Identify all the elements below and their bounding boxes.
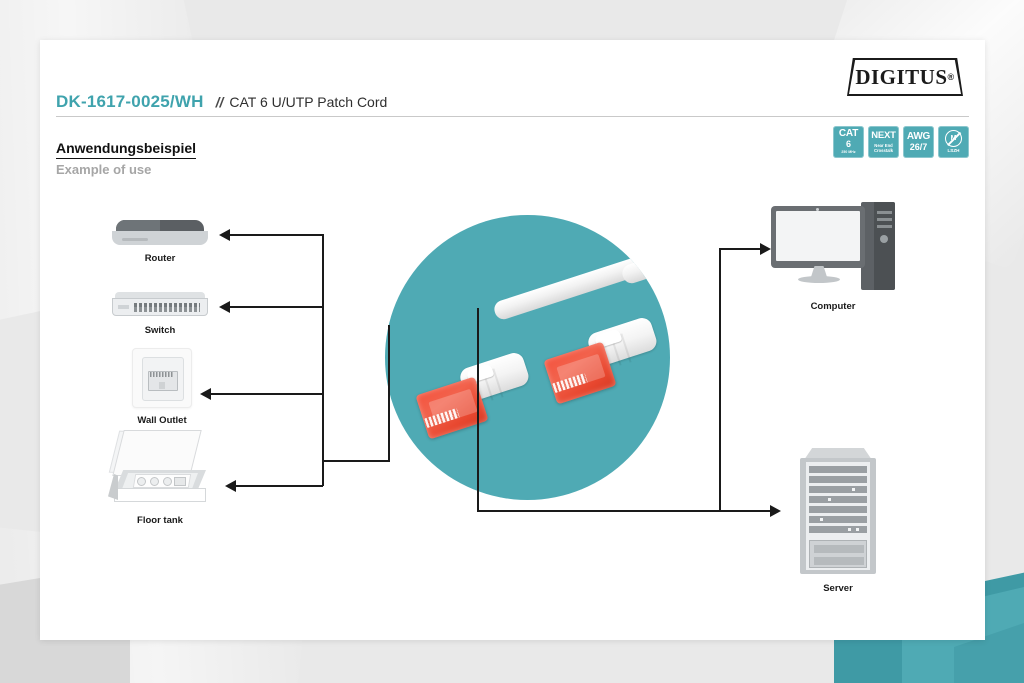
lszh-no-smoke-icon: M bbox=[945, 130, 962, 147]
server-led-2 bbox=[828, 498, 831, 501]
cat6-badge-line2: 6 bbox=[846, 140, 851, 149]
node-floor-tank[interactable]: Floor tank bbox=[108, 430, 212, 526]
server-drive-bay-slot-1 bbox=[814, 545, 864, 553]
computer-screen bbox=[776, 211, 860, 261]
cat6-badge-line1: CAT bbox=[839, 129, 858, 139]
server-slat-2 bbox=[809, 476, 867, 483]
outlet-jack-slot bbox=[159, 382, 165, 389]
computer-tower-slot-3 bbox=[877, 225, 892, 228]
node-computer[interactable]: Computer bbox=[771, 202, 895, 312]
left-branch-outlet bbox=[211, 393, 323, 395]
section-heading-de: Anwendungsbeispiel bbox=[56, 140, 196, 159]
floor-tank-data-socket bbox=[174, 477, 186, 486]
server-led-1 bbox=[852, 488, 855, 491]
server-slat-1 bbox=[809, 466, 867, 473]
switch-icon bbox=[112, 292, 208, 318]
left-trunk-line bbox=[322, 234, 324, 486]
right-trunk-line bbox=[719, 248, 721, 511]
product-description: CAT 6 U/UTP Patch Cord bbox=[229, 94, 387, 110]
product-sku: DK-1617-0025/WH bbox=[56, 92, 204, 112]
outlet-jack-pins bbox=[150, 372, 174, 377]
right-branch-computer bbox=[719, 248, 761, 250]
awg-badge-line1: AWG bbox=[907, 132, 930, 142]
server-slat-5 bbox=[809, 506, 867, 513]
cat6-badge: CAT 6 250 MHz bbox=[833, 126, 864, 158]
lszh-badge-line1: LSZH bbox=[948, 149, 960, 154]
server-slat-4 bbox=[809, 496, 867, 503]
cat6-badge-line3: 250 MHz bbox=[841, 151, 855, 154]
left-branch-switch bbox=[230, 306, 323, 308]
node-label-switch: Switch bbox=[145, 325, 176, 336]
floor-tank-icon bbox=[108, 430, 212, 508]
floor-tank-lid bbox=[112, 430, 201, 476]
computer-icon bbox=[771, 202, 895, 294]
left-branch-router bbox=[230, 234, 323, 236]
floor-tank-side-panel bbox=[108, 474, 118, 500]
next-badge-line2: Near End Crosstalk bbox=[868, 143, 899, 154]
logo-text: DIGITUS bbox=[855, 65, 947, 90]
node-label-server: Server bbox=[823, 583, 853, 594]
node-label-computer: Computer bbox=[811, 301, 856, 312]
right-plug-drop bbox=[477, 308, 479, 512]
arrow-head-router bbox=[219, 229, 230, 241]
node-label-wall-outlet: Wall Outlet bbox=[137, 415, 186, 426]
logo-trademark-symbol: ® bbox=[948, 72, 955, 82]
arrow-head-computer bbox=[760, 243, 771, 255]
arrow-head-switch bbox=[219, 301, 230, 313]
datasheet-card: DIGITUS® DK-1617-0025/WH // CAT 6 U/UTP … bbox=[40, 40, 985, 640]
floor-tank-power-socket-3 bbox=[163, 477, 172, 486]
digitus-logo: DIGITUS® bbox=[847, 58, 963, 96]
arrow-head-server bbox=[770, 505, 781, 517]
switch-led-panel bbox=[118, 305, 129, 309]
awg-badge-line2: 26/7 bbox=[910, 143, 928, 152]
wall-outlet-icon bbox=[132, 348, 192, 408]
left-branch-tank bbox=[236, 485, 323, 487]
node-label-router: Router bbox=[145, 253, 176, 264]
floor-tank-power-socket-1 bbox=[137, 477, 146, 486]
section-heading-en: Example of use bbox=[56, 162, 151, 177]
node-server[interactable]: Server bbox=[800, 448, 876, 594]
server-drive-bay bbox=[809, 540, 867, 568]
next-badge-line1: NEXT bbox=[871, 131, 896, 141]
computer-power-button bbox=[880, 235, 888, 243]
right-branch-server bbox=[719, 510, 771, 512]
left-plug-drop bbox=[388, 325, 390, 461]
application-diagram: Router Switch Wall Outlet bbox=[40, 180, 985, 630]
lszh-badge: M LSZH bbox=[938, 126, 969, 158]
title-divider bbox=[56, 116, 969, 117]
server-drive-bay-slot-2 bbox=[814, 557, 864, 565]
floor-tank-front-panel bbox=[114, 488, 206, 502]
computer-stand-base bbox=[798, 276, 840, 283]
next-badge: NEXT Near End Crosstalk bbox=[868, 126, 899, 158]
floor-tank-power-socket-2 bbox=[150, 477, 159, 486]
server-led-5 bbox=[856, 528, 859, 531]
server-slat-3 bbox=[809, 486, 867, 493]
router-icon bbox=[112, 220, 208, 246]
node-wall-outlet[interactable]: Wall Outlet bbox=[132, 348, 192, 426]
server-led-3 bbox=[820, 518, 823, 521]
server-led-4 bbox=[848, 528, 851, 531]
left-plug-to-trunk bbox=[322, 460, 390, 462]
computer-tower-face bbox=[874, 202, 895, 290]
product-title-row: DK-1617-0025/WH // CAT 6 U/UTP Patch Cor… bbox=[56, 92, 387, 112]
node-router[interactable]: Router bbox=[112, 220, 208, 264]
node-label-floor-tank: Floor tank bbox=[137, 515, 183, 526]
switch-port-row-upper bbox=[134, 303, 200, 307]
router-indicator-strip bbox=[122, 238, 148, 241]
awg-badge: AWG 26/7 bbox=[903, 126, 934, 158]
computer-tower-slot-2 bbox=[877, 218, 892, 221]
node-switch[interactable]: Switch bbox=[112, 292, 208, 336]
right-plug-to-trunk bbox=[477, 510, 720, 512]
title-separator: // bbox=[216, 94, 224, 110]
logo-text-wrap: DIGITUS® bbox=[847, 58, 963, 96]
arrow-head-wall-outlet bbox=[200, 388, 211, 400]
computer-tower-slot-1 bbox=[877, 211, 892, 214]
computer-webcam bbox=[816, 208, 819, 211]
server-icon bbox=[800, 448, 876, 576]
arrow-head-floor-tank bbox=[225, 480, 236, 492]
certification-badges: CAT 6 250 MHz NEXT Near End Crosstalk AW… bbox=[833, 126, 969, 158]
server-slat-6 bbox=[809, 516, 867, 523]
